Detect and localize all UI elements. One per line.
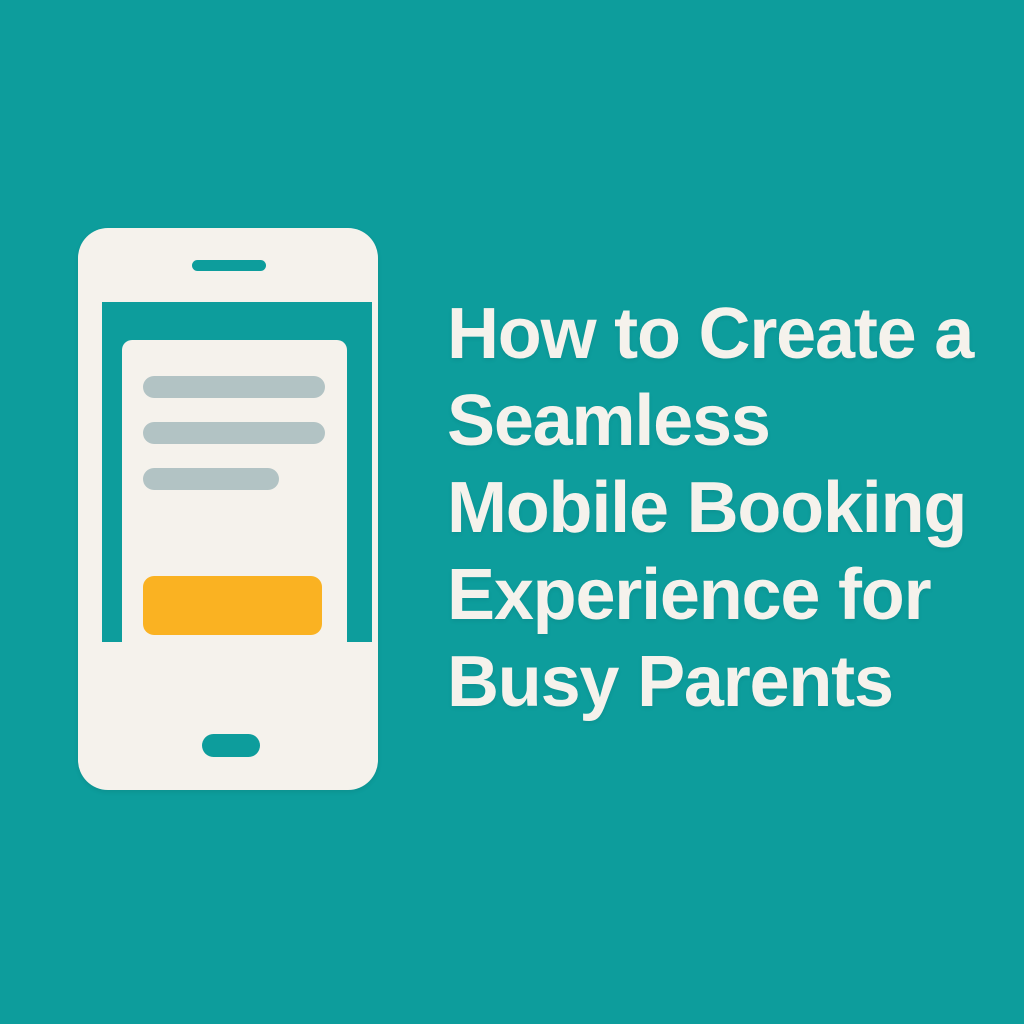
- mobile-phone-booking-illustration: [78, 228, 378, 790]
- placeholder-line-3: [143, 468, 279, 490]
- booking-cta-button[interactable]: [143, 576, 322, 635]
- booking-card: [122, 340, 347, 662]
- phone-home-button[interactable]: [202, 734, 260, 757]
- placeholder-line-1: [143, 376, 325, 398]
- phone-speaker-icon: [192, 260, 266, 271]
- page-title: How to Create a Seamless Mobile Booking …: [447, 291, 992, 726]
- placeholder-line-2: [143, 422, 325, 444]
- poster-canvas: How to Create a Seamless Mobile Booking …: [0, 0, 1024, 1024]
